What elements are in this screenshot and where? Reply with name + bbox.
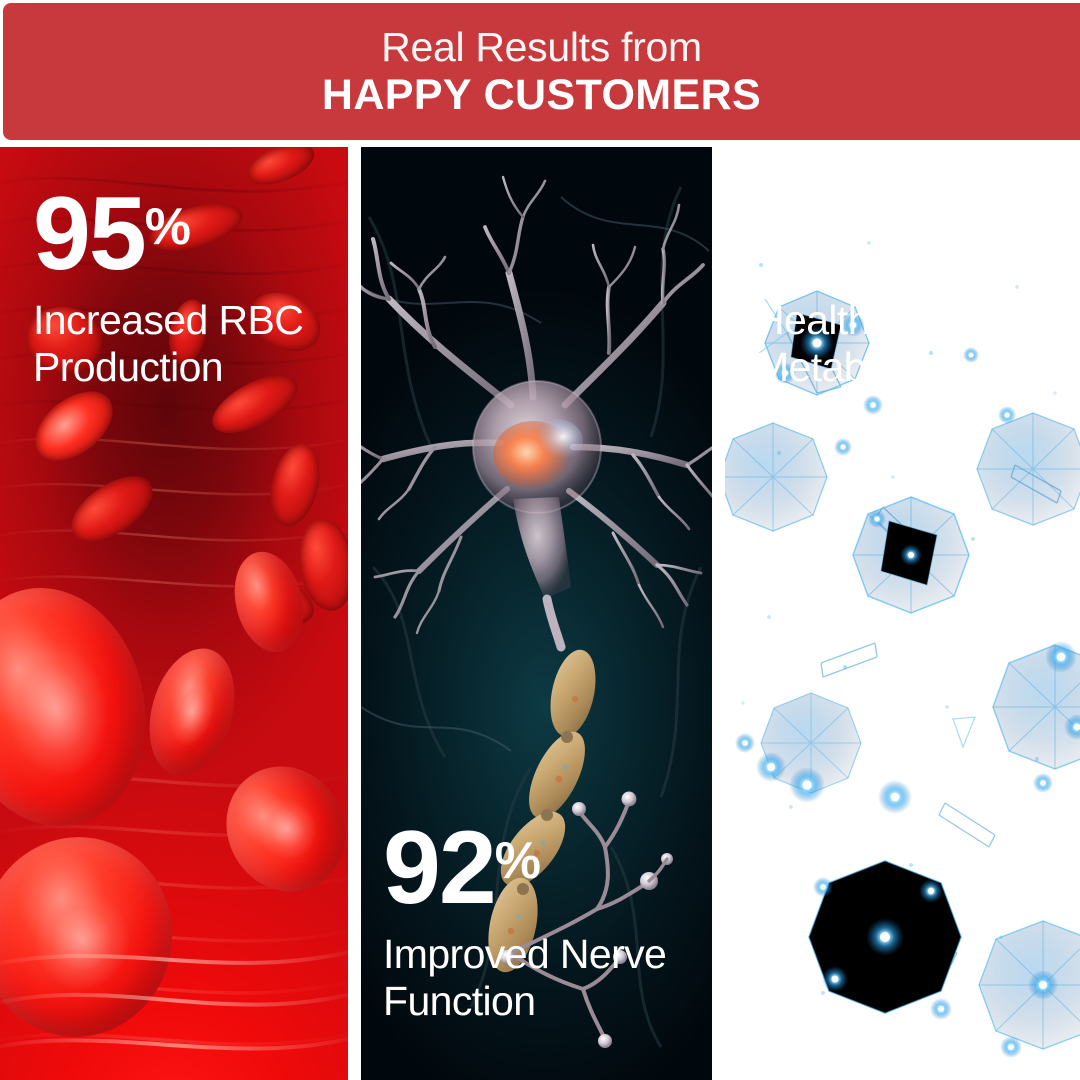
stat-number-row: 92 % — [383, 821, 666, 917]
header-banner: Real Results from HAPPY CUSTOMERS — [3, 3, 1080, 140]
stat-text-rbc: 95 % Increased RBC Production — [33, 187, 303, 391]
stat-panel-rbc: 95 % Increased RBC Production — [0, 147, 348, 1080]
molecule-sphere — [977, 413, 1080, 525]
stat-label: Improved Nerve Function — [383, 931, 666, 1025]
stat-percent-sign: % — [495, 821, 540, 902]
stat-percent-sign: % — [867, 187, 912, 268]
banner-headline-line2: HAPPY CUSTOMERS — [322, 74, 761, 117]
stat-number: 85 — [755, 187, 867, 283]
stat-number-row: 95 % — [33, 187, 303, 283]
stat-number: 92 — [383, 821, 495, 917]
stat-panel-metabolism: 85 % Healthy Metabolism — [725, 147, 1080, 1080]
panel-row: 95 % Increased RBC Production — [0, 147, 1080, 1080]
infographic-root: Real Results from HAPPY CUSTOMERS — [0, 0, 1080, 1080]
stat-label: Healthy Metabolism — [755, 297, 959, 391]
stat-number-row: 85 % — [755, 187, 959, 283]
stat-number: 95 — [33, 187, 145, 283]
banner-headline-line1: Real Results from — [381, 27, 702, 68]
stat-text-nerve: 92 % Improved Nerve Function — [383, 821, 666, 1025]
stat-panel-nerve: 92 % Improved Nerve Function — [361, 147, 712, 1080]
molecule-sphere — [725, 423, 827, 531]
stat-percent-sign: % — [145, 187, 190, 268]
stat-label: Increased RBC Production — [33, 297, 303, 391]
stat-text-metabolism: 85 % Healthy Metabolism — [755, 187, 959, 391]
